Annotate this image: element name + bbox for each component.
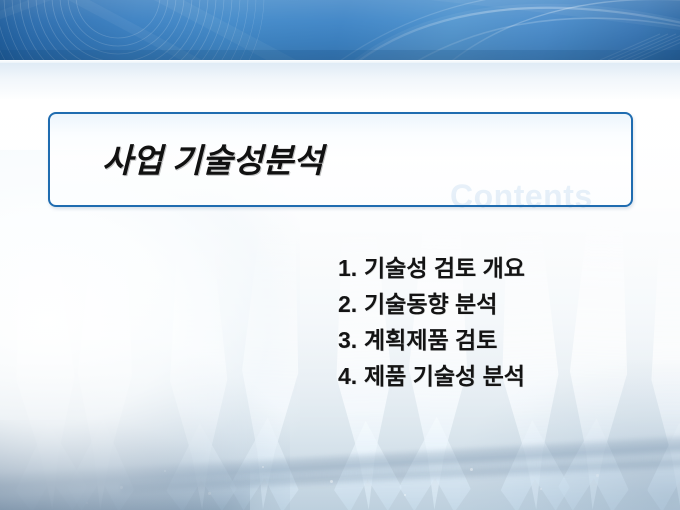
agenda-item-number: 2. (338, 286, 364, 322)
agenda-item: 4.제품 기술성 분석 (338, 358, 638, 394)
agenda-item-number: 4. (338, 358, 364, 394)
agenda-item-number: 3. (338, 322, 364, 358)
agenda-item-number: 1. (338, 250, 364, 286)
agenda-item-label: 계획제품 검토 (364, 327, 497, 353)
agenda-list: 1.기술성 검토 개요 2.기술동향 분석 3.계획제품 검토 4.제품 기술성… (338, 250, 638, 394)
agenda-item-label: 기술성 검토 개요 (364, 255, 525, 281)
agenda-item: 3.계획제품 검토 (338, 322, 638, 358)
agenda-item-label: 기술동향 분석 (364, 291, 497, 317)
agenda-item: 1.기술성 검토 개요 (338, 250, 638, 286)
agenda-item-label: 제품 기술성 분석 (364, 363, 525, 389)
header-banner (0, 0, 680, 60)
page-title: 사업 기술성분석 (102, 134, 324, 182)
title-box: 사업 기술성분석 (48, 112, 633, 207)
agenda-item: 2.기술동향 분석 (338, 286, 638, 322)
slide-canvas: Contents 사업 기술성분석 1.기술성 검토 개요 2.기술동향 분석 … (0, 0, 680, 510)
header-dropshadow (0, 63, 680, 99)
